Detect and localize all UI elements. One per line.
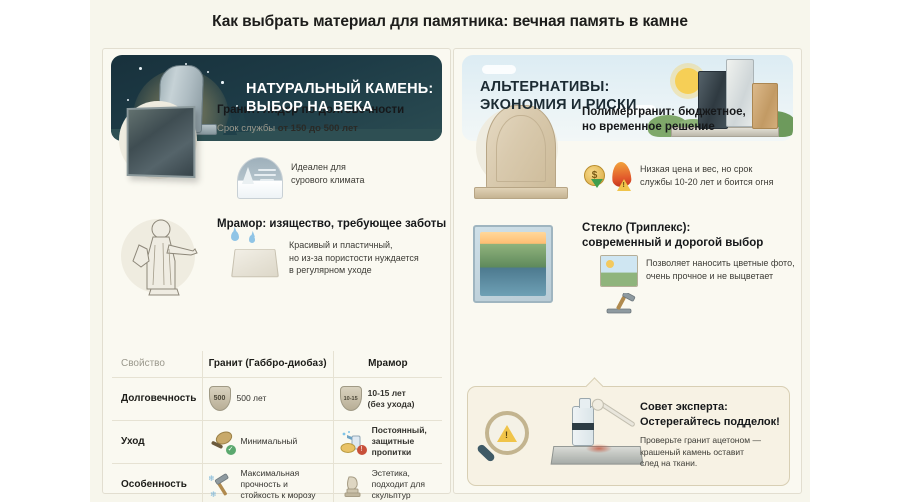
- marble-statue-illustration: [117, 215, 209, 299]
- brush-icon: ✓: [209, 430, 235, 454]
- shield-icon: 500: [209, 386, 231, 411]
- durability-marble-line1: 10-15 лет: [368, 388, 415, 399]
- spray-bottle-sponge-icon: !: [340, 430, 366, 454]
- tip-title-line2: Остерегайтесь подделок!: [640, 415, 780, 430]
- right-header-line1: АЛЬТЕРНАТИВЫ:: [480, 78, 637, 96]
- table-row: Уход ✓ Минимальный: [112, 420, 442, 463]
- table-header-granite: Гранит (Габбро-диобаз): [202, 351, 333, 377]
- row-property-care: Уход: [112, 420, 202, 463]
- snow-tree-icon: [242, 167, 254, 184]
- right-header-title: АЛЬТЕРНАТИВЫ: ЭКОНОМИЯ И РИСКИ: [480, 78, 637, 114]
- granite-subtitle-prefix: Срок службы: [217, 123, 278, 134]
- feature-granite-line1: Максимальная: [241, 468, 316, 479]
- comparison-table: Свойство Гранит (Габбро-диобаз) Мрамор Д…: [112, 351, 442, 502]
- wind-line: [258, 169, 276, 171]
- tip-title-line1: Совет эксперта:: [640, 400, 780, 415]
- infographic-page: Как выбрать материал для памятника: вечн…: [0, 0, 900, 502]
- row-feature-granite: ❄❄ Максимальная прочность и стойкость к …: [202, 463, 333, 502]
- status-warning-badge: !: [357, 445, 367, 455]
- tip-body-line3: след на ткани.: [640, 458, 783, 470]
- granite-feature-line2: сурового климата: [291, 174, 431, 187]
- hammer-strength-icon: [602, 293, 642, 319]
- star-icon: [221, 81, 224, 84]
- row-care-marble: ! Постоянный, защитные пропитки: [333, 420, 442, 463]
- durability-marble-line2: (без ухода): [368, 399, 415, 410]
- table-header-row: Свойство Гранит (Габбро-диобаз) Мрамор: [112, 351, 442, 377]
- feature-marble-line3: скульптур: [372, 490, 425, 501]
- polymer-desc-line1: Низкая цена и вес, но срок: [640, 163, 800, 176]
- bust-sculpture-icon: [340, 473, 366, 497]
- polymer-desc-text: Низкая цена и вес, но срок службы 10-20 …: [640, 163, 800, 188]
- left-header-title: НАТУРАЛЬНЫЙ КАМЕНЬ: ВЫБОР НА ВЕКА: [246, 80, 433, 116]
- expert-tip-box: Совет эксперта: Остерегайтесь подделок! …: [467, 386, 790, 486]
- svg-text:❄: ❄: [210, 490, 217, 499]
- glass-title-line2: современный и дорогой выбор: [582, 236, 794, 251]
- table-row: Долговечность 500 500 лет 10-15 10-15 ле…: [112, 377, 442, 420]
- table-row: Особенность ❄❄: [112, 463, 442, 502]
- row-feature-granite-text: Максимальная прочность и стойкость к мор…: [241, 468, 316, 501]
- water-droplet-icon: [249, 235, 255, 243]
- arrow-down-icon: [591, 179, 603, 188]
- warning-triangle-icon: [497, 425, 517, 442]
- right-header-line2: ЭКОНОМИЯ И РИСКИ: [480, 96, 637, 114]
- granite-subtitle: Срок службы от 150 до 500 лет: [217, 122, 443, 135]
- water-droplet-icon: [231, 231, 239, 241]
- wind-line: [260, 179, 274, 181]
- svg-text:❄: ❄: [209, 474, 215, 483]
- marble-desc-line2: но из-за пористости нуждается: [289, 252, 441, 265]
- table-header-property: Свойство: [112, 351, 202, 377]
- star-icon: [139, 67, 142, 70]
- left-header-line1: НАТУРАЛЬНЫЙ КАМЕНЬ:: [246, 80, 433, 98]
- warning-triangle-icon: [617, 179, 631, 191]
- row-feature-marble-text: Эстетика, подходит для скульптур: [372, 468, 425, 501]
- row-feature-marble: Эстетика, подходит для скульптур: [333, 463, 442, 502]
- table-header-marble: Мрамор: [333, 351, 442, 377]
- star-icon: [207, 71, 209, 73]
- tip-title: Совет эксперта: Остерегайтесь подделок!: [640, 400, 780, 429]
- marble-text-block: Мрамор: изящество, требующее заботы: [217, 217, 447, 232]
- care-marble-line1: Постоянный,: [372, 425, 427, 436]
- feature-marble-line1: Эстетика,: [372, 468, 425, 479]
- row-durability-marble-text: 10-15 лет (без ухода): [368, 388, 415, 410]
- tip-body-line2: крашеный камень оставит: [640, 447, 783, 459]
- bottle-label-band: [572, 423, 594, 430]
- polymer-headstone-base: [474, 187, 568, 199]
- star-icon: [127, 99, 129, 101]
- tip-body: Проверьте гранит ацетоном — крашеный кам…: [640, 435, 783, 470]
- marble-desc-line3: в регулярном уходе: [289, 264, 441, 277]
- tip-body-line1: Проверьте гранит ацетоном —: [640, 435, 783, 447]
- cotton-swab-icon: [596, 399, 636, 427]
- infographic-canvas: Как выбрать материал для памятника: вечн…: [90, 0, 810, 502]
- cloud-icon: [482, 65, 516, 74]
- row-property-durability: Долговечность: [112, 377, 202, 420]
- glass-desc-text: Позволяет наносить цветные фото, очень п…: [646, 257, 798, 282]
- status-ok-badge: ✓: [226, 445, 236, 455]
- row-care-granite: ✓ Минимальный: [202, 420, 333, 463]
- left-header-line2: ВЫБОР НА ВЕКА: [246, 98, 433, 116]
- feature-granite-line3: стойкость к морозу: [241, 490, 316, 501]
- hammer-snowflake-icon: ❄❄: [209, 473, 235, 497]
- marble-tile-icon: [231, 249, 279, 277]
- color-photo-icon: [600, 255, 638, 287]
- shield-icon: 10-15: [340, 386, 362, 411]
- magnifier-icon: [485, 411, 529, 455]
- marble-desc-text: Красивый и пластичный, но из-за пористос…: [289, 239, 441, 277]
- tip-notch: [585, 377, 603, 395]
- feature-marble-line2: подходит для: [372, 479, 425, 490]
- winter-climate-icon: [237, 157, 283, 199]
- page-title: Как выбрать материал для памятника: вечн…: [90, 13, 810, 31]
- marble-title: Мрамор: изящество, требующее заботы: [217, 217, 447, 232]
- granite-feature-line1: Идеален для: [291, 161, 431, 174]
- granite-feature-text: Идеален для сурового климата: [291, 161, 431, 186]
- photo-sun-icon: [606, 260, 614, 268]
- glass-desc-line1: Позволяет наносить цветные фото,: [646, 257, 798, 270]
- left-column-natural-stone: НАТУРАЛЬНЫЙ КАМЕНЬ: ВЫБОР НА ВЕКА Гранит…: [102, 48, 451, 494]
- granite-subtitle-value: от 150 до 500 лет: [278, 123, 358, 134]
- glass-title-line1: Стекло (Триплекс):: [582, 221, 794, 236]
- landscape-photo: [480, 232, 546, 296]
- row-care-marble-text: Постоянный, защитные пропитки: [372, 425, 427, 458]
- glass-desc-line2: очень прочное и не выцветает: [646, 270, 798, 283]
- marble-desc-line1: Красивый и пластичный,: [289, 239, 441, 252]
- row-care-granite-text: Минимальный: [241, 436, 298, 447]
- polymer-title-line2: но временное решение: [582, 120, 794, 135]
- row-durability-granite: 500 500 лет: [202, 377, 333, 420]
- care-marble-line2: защитные: [372, 436, 427, 447]
- glass-text-block: Стекло (Триплекс): современный и дорогой…: [582, 221, 794, 250]
- wind-line: [254, 174, 276, 176]
- glass-panel-illustration: [473, 225, 553, 303]
- row-durability-marble: 10-15 10-15 лет (без ухода): [333, 377, 442, 420]
- granite-slab-illustration: [127, 106, 196, 178]
- polymer-desc-line2: службы 10-20 лет и боится огня: [640, 176, 800, 189]
- polymer-granite-headstone-illustration: [486, 105, 556, 189]
- row-durability-granite-text: 500 лет: [237, 393, 267, 404]
- row-property-feature: Особенность: [112, 463, 202, 502]
- care-marble-line3: пропитки: [372, 447, 427, 458]
- right-column-alternatives: АЛЬТЕРНАТИВЫ: ЭКОНОМИЯ И РИСКИ Полимергр…: [453, 48, 802, 494]
- feature-granite-line2: прочность и: [241, 479, 316, 490]
- acetone-bottle-icon: [572, 406, 594, 446]
